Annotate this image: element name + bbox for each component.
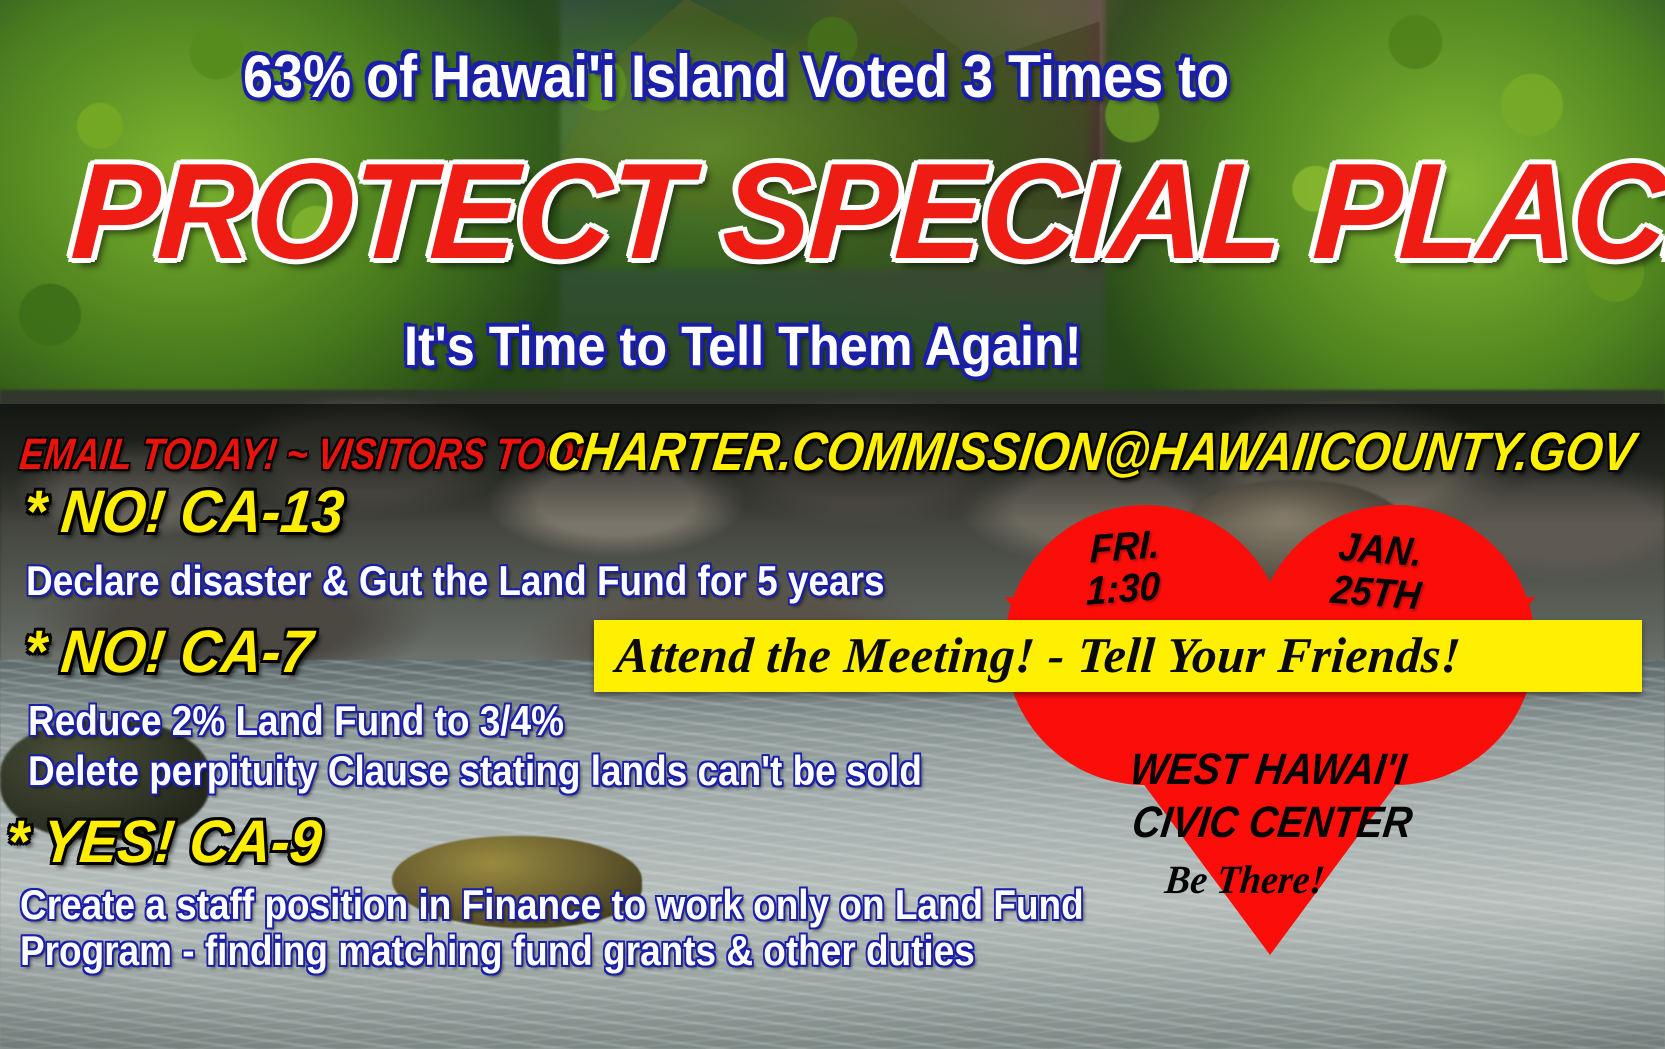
heart-event-badge: FRI. 1:30 JAN. 25TH WEST HAWAI'I CIVIC C… [1005, 505, 1535, 955]
event-time: 1:30 [1086, 566, 1161, 611]
venue-line-1: WEST HAWAI'I [1128, 748, 1409, 792]
email-address[interactable]: CHARTER.COMMISSION@HAWAIICOUNTY.GOV [545, 425, 1638, 479]
call-to-action: Be There! [1163, 860, 1326, 900]
amendment-desc-ca13-line1: Declare disaster & Gut the Land Fund for… [26, 560, 885, 602]
event-date: 25TH [1328, 570, 1423, 617]
meeting-banner: Attend the Meeting! - Tell Your Friends! [594, 620, 1642, 692]
amendment-desc-ca9-line1: Create a staff position in Finance to wo… [20, 884, 1084, 926]
event-month: JAN. [1336, 527, 1425, 573]
headline-main: PROTECT SPECIAL PLACES! [69, 143, 1665, 279]
amendment-vote-ca13: * NO! CA-13 [21, 482, 347, 542]
meeting-banner-text: Attend the Meeting! - Tell Your Friends! [614, 626, 1463, 684]
amendment-vote-ca9: * YES! CA-9 [3, 812, 324, 872]
email-callout: EMAIL TODAY! ~ VISITORS TOO! [17, 433, 587, 477]
amendment-desc-ca7-line1: Reduce 2% Land Fund to 3/4% [28, 700, 564, 742]
venue-line-2: CIVIC CENTER [1130, 801, 1415, 845]
amendment-desc-ca9-line2: Program - finding matching fund grants &… [20, 930, 975, 972]
headline-pre: 63% of Hawai'i Island Voted 3 Times to [243, 47, 1229, 107]
amendment-desc-ca7-line2: Delete perpituity Clause stating lands c… [28, 750, 922, 792]
subheadline: It's Time to Tell Them Again! [404, 318, 1082, 374]
event-day: FRI. [1090, 524, 1160, 569]
amendment-vote-ca7: * NO! CA-7 [21, 622, 315, 682]
poster-canvas: 63% of Hawai'i Island Voted 3 Times to P… [0, 0, 1665, 1049]
